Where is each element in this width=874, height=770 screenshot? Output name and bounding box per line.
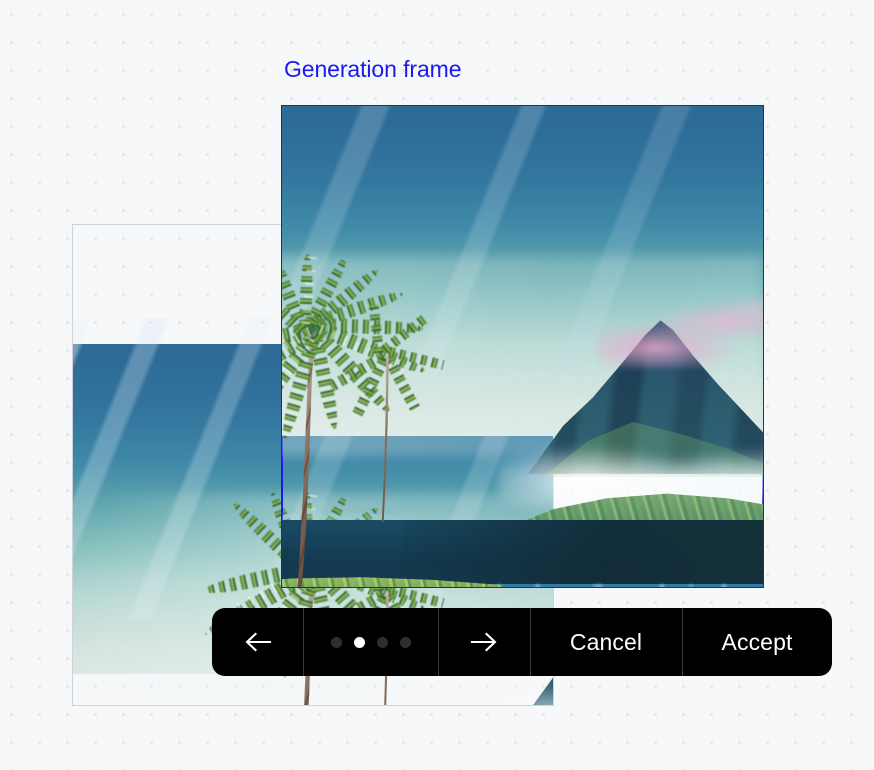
generation-frame-title: Generation frame (284, 56, 461, 83)
variation-pagination[interactable] (303, 608, 438, 676)
pagination-dot[interactable] (400, 637, 411, 648)
mist-layer (498, 674, 553, 705)
pagination-dot-active[interactable] (354, 637, 365, 648)
cancel-button-label: Cancel (570, 629, 642, 656)
pagination-dot[interactable] (377, 637, 388, 648)
painting-generated (282, 106, 763, 587)
previous-variation-button[interactable] (212, 608, 303, 676)
secondary-palm (341, 344, 461, 574)
pagination-dot[interactable] (331, 637, 342, 648)
accept-button-label: Accept (722, 629, 793, 656)
generation-frame[interactable] (282, 106, 763, 587)
generation-toolbar: Cancel Accept (212, 608, 832, 676)
arrow-left-icon (244, 631, 272, 653)
next-variation-button[interactable] (438, 608, 530, 676)
palm-tree-base (282, 586, 345, 587)
accept-button[interactable]: Accept (682, 608, 832, 676)
secondary-palm-trunk (381, 354, 393, 522)
volcano-plume (598, 296, 763, 368)
arrow-right-icon (470, 631, 498, 653)
cancel-button[interactable]: Cancel (530, 608, 682, 676)
